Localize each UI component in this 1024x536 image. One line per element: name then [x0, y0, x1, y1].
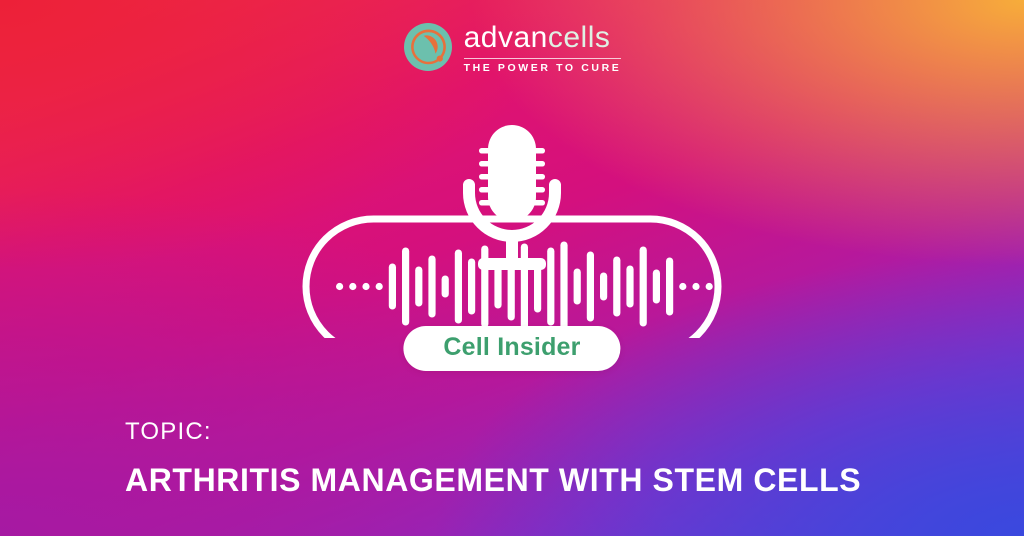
brand-logo: advancells THE POWER TO CURE [0, 22, 1024, 74]
waveform-bar [455, 250, 462, 324]
waveform-bar [587, 252, 594, 322]
waveform-bar [402, 248, 409, 326]
waveform-bar [468, 259, 475, 315]
waveform-bar [389, 264, 396, 310]
waveform-dot [349, 283, 356, 290]
waveform-bar [508, 253, 515, 321]
podcast-emblem [0, 118, 1024, 338]
waveform-bar [481, 246, 488, 328]
brand-name-part-two: cells [548, 21, 611, 54]
waveform-dot [376, 283, 383, 290]
waveform-bar [560, 242, 567, 332]
waveform-bar [494, 265, 501, 309]
waveform-bar [640, 247, 647, 327]
waveform-bar [547, 248, 554, 326]
waveform-bar [626, 266, 633, 308]
topic-title: ARTHRITIS MANAGEMENT WITH STEM CELLS [125, 463, 861, 498]
waveform-dot [692, 283, 699, 290]
waveform-bar [600, 273, 607, 301]
podcast-cover-poster: advancells THE POWER TO CURE [0, 0, 1024, 536]
waveform-bar [442, 276, 449, 298]
waveform-bar [574, 269, 581, 305]
waveform-dot [679, 283, 686, 290]
cell-insider-badge: Cell Insider [403, 326, 620, 371]
waveform-dot [336, 283, 343, 290]
waveform-dot [362, 283, 369, 290]
brand-logo-text: advancells THE POWER TO CURE [464, 23, 622, 74]
waveform-bar [653, 270, 660, 304]
waveform-bar [415, 267, 422, 307]
waveform-bar [534, 261, 541, 313]
cell-insider-badge-label: Cell Insider [443, 333, 580, 361]
microphone-icon [463, 125, 561, 270]
waveform-bar [521, 244, 528, 330]
waveform-bar [666, 258, 673, 316]
brand-tagline: THE POWER TO CURE [464, 63, 622, 74]
brand-divider [464, 58, 622, 59]
advancells-q-mark-icon [403, 22, 455, 74]
waveform-bar [428, 256, 435, 318]
audio-waveform [336, 242, 713, 332]
waveform-dot [706, 283, 713, 290]
topic-label: TOPIC: [125, 420, 212, 444]
brand-name-part-one: advan [464, 21, 548, 54]
waveform-bar [613, 257, 620, 317]
brand-name: advancells [464, 23, 622, 53]
